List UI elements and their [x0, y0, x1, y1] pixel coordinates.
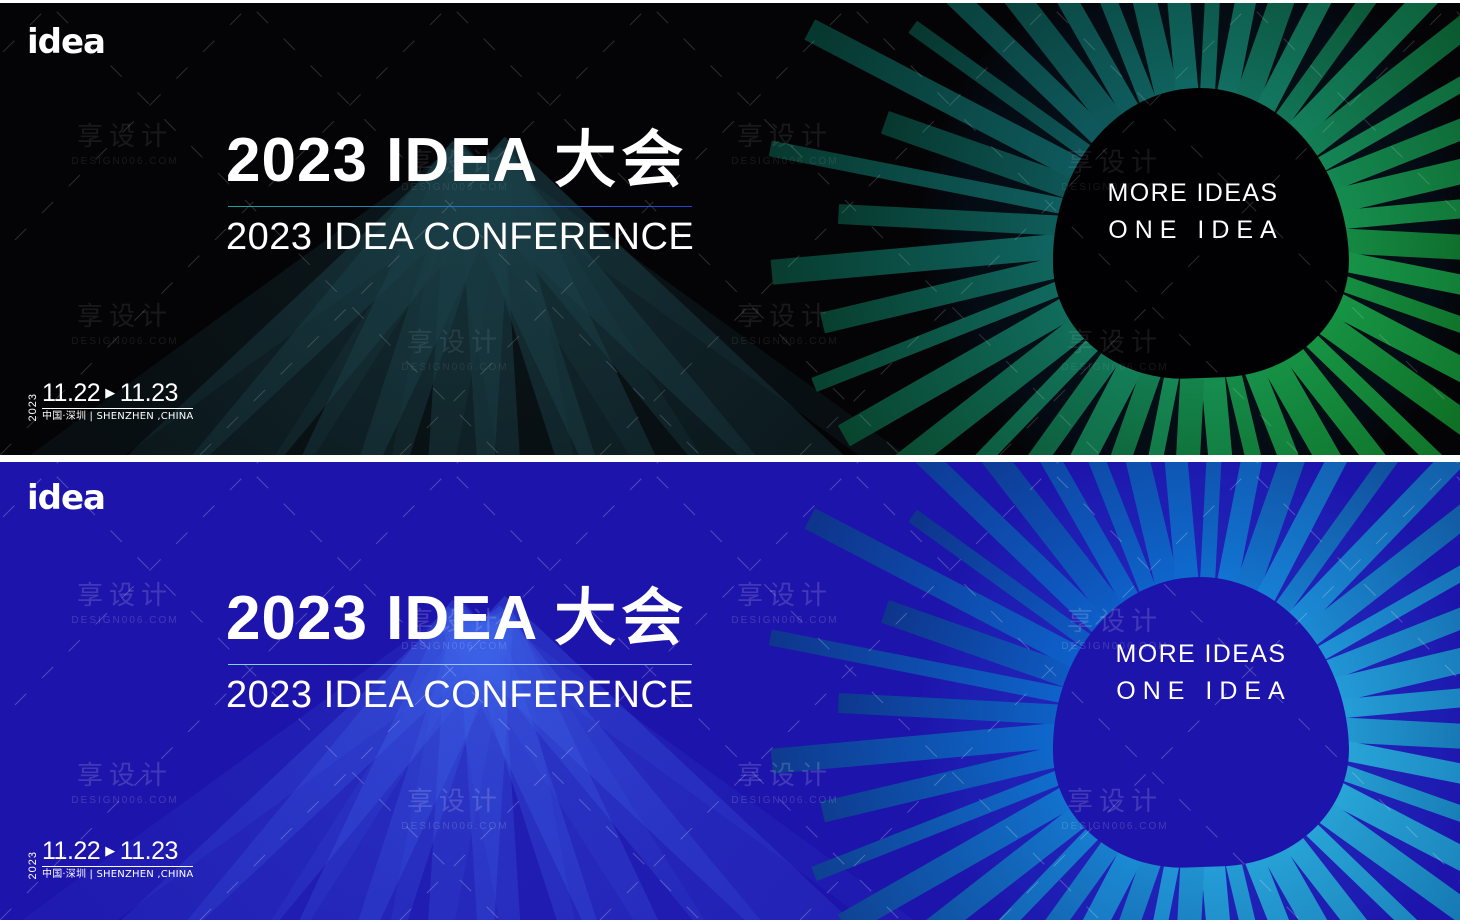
- date-block-dark: 2023 11.22 ▶ 11.23 中国·深圳 | SHENZHEN ,CHI…: [28, 381, 193, 422]
- watermark: 享设计DESIGN006.COM: [370, 327, 540, 374]
- sunburst-spoke: [1195, 227, 1460, 455]
- page-title-blue: 2023 IDEA 大会: [226, 585, 786, 652]
- watermark-cn: 享设计: [40, 301, 210, 334]
- watermark-en: DESIGN006.COM: [40, 336, 210, 349]
- sunburst-spoke: [987, 227, 1211, 455]
- watermark-en: DESIGN006.COM: [1030, 821, 1200, 834]
- date-start-dark: 11.22: [42, 381, 100, 406]
- watermark: 享设计DESIGN006.COM: [40, 580, 210, 627]
- watermark: 享设计DESIGN006.COM: [1030, 327, 1200, 374]
- title-block-dark: 2023 IDEA 大会 2023 IDEA CONFERENCE: [226, 127, 786, 259]
- sunburst-spoke: [976, 716, 1208, 920]
- sunburst-spoke: [1192, 227, 1458, 455]
- sunburst-spoke: [838, 223, 1206, 447]
- sunburst-spoke: [1077, 719, 1210, 920]
- date-arrow-icon-dark: ▶: [105, 386, 115, 399]
- date-year-blue: 2023: [28, 851, 39, 879]
- date-range-dark: 11.22 ▶ 11.23: [42, 381, 193, 406]
- title-main-cjk: 大会: [554, 581, 688, 654]
- watermark-cn: 享设计: [370, 786, 540, 819]
- watermark-en: DESIGN006.COM: [370, 362, 540, 375]
- date-right-dark: 11.22 ▶ 11.23 中国·深圳 | SHENZHEN ,CHINA: [42, 381, 193, 422]
- date-start-blue: 11.22: [42, 839, 100, 864]
- date-year-dark: 2023: [28, 393, 39, 421]
- watermark-en: DESIGN006.COM: [40, 615, 210, 628]
- sunburst-spoke: [1197, 226, 1460, 360]
- sunburst-spoke: [881, 713, 1207, 920]
- sunburst-spoke: [1194, 222, 1460, 443]
- title-main-latin: 2023 IDEA: [226, 126, 554, 195]
- watermark-en: DESIGN006.COM: [40, 795, 210, 808]
- title-divider-blue: [228, 664, 692, 665]
- tagline-line-2-blue: ONE IDEA: [1096, 679, 1306, 704]
- sunburst-spoke: [811, 715, 1203, 881]
- sunburst-spoke: [1189, 227, 1408, 455]
- watermark-en: DESIGN006.COM: [700, 336, 870, 349]
- poster-panel-dark: 享设计DESIGN006.COM享设计DESIGN006.COM享设计DESIG…: [0, 3, 1460, 455]
- watermark-cn: 享设计: [1030, 327, 1200, 360]
- watermark-cn: 享设计: [40, 760, 210, 793]
- sunburst-spoke: [1199, 710, 1460, 752]
- watermark-en: DESIGN006.COM: [40, 156, 210, 169]
- sunburst-spoke: [976, 227, 1208, 455]
- page-title-dark: 2023 IDEA 大会: [226, 127, 786, 194]
- tagline-blue: MORE IDEAS ONE IDEA: [1096, 642, 1306, 704]
- watermark-cn: 享设计: [700, 760, 870, 793]
- tagline-line-1-blue: MORE IDEAS: [1096, 642, 1306, 667]
- sunburst-spoke: [1077, 230, 1210, 455]
- tagline-line-2-dark: ONE IDEA: [1088, 218, 1298, 243]
- poster-stage: 享设计DESIGN006.COM享设计DESIGN006.COM享设计DESIG…: [0, 0, 1460, 920]
- sunburst-spoke: [1197, 715, 1460, 849]
- date-underline-blue: [42, 866, 193, 867]
- title-main-latin: 2023 IDEA: [226, 584, 554, 653]
- watermark-en: DESIGN006.COM: [1030, 362, 1200, 375]
- brand-logo-blue: idea: [27, 478, 105, 518]
- date-end-dark: 11.23: [120, 381, 178, 406]
- watermark-cn: 享设计: [370, 327, 540, 360]
- sunburst-spoke: [1193, 223, 1460, 455]
- watermark-cn: 享设计: [40, 580, 210, 613]
- poster-panel-blue: 享设计DESIGN006.COM享设计DESIGN006.COM享设计DESIG…: [0, 462, 1460, 920]
- title-divider-dark: [228, 206, 692, 207]
- sunburst-spoke: [838, 712, 1206, 920]
- date-right-blue: 11.22 ▶ 11.23 中国·深圳 | SHENZHEN ,CHINA: [42, 839, 193, 880]
- sunburst-spoke: [1192, 720, 1294, 920]
- title-main-cjk: 大会: [554, 123, 688, 196]
- sunburst-spoke: [1170, 232, 1212, 455]
- tagline-line-1-dark: MORE IDEAS: [1088, 181, 1298, 206]
- sunburst-spoke: [881, 224, 1207, 455]
- date-block-blue: 2023 11.22 ▶ 11.23 中国·深圳 | SHENZHEN ,CHI…: [28, 839, 193, 880]
- title-block-blue: 2023 IDEA 大会 2023 IDEA CONFERENCE: [226, 585, 786, 717]
- sunburst-spoke: [1189, 716, 1408, 920]
- tagline-dark: MORE IDEAS ONE IDEA: [1088, 181, 1298, 243]
- watermark-en: DESIGN006.COM: [700, 795, 870, 808]
- date-range-blue: 11.22 ▶ 11.23: [42, 839, 193, 864]
- sunburst-spoke: [898, 227, 1206, 455]
- sunburst-spoke: [1192, 716, 1458, 920]
- sunburst-spoke: [1193, 712, 1460, 920]
- sunburst-spoke: [1191, 718, 1366, 920]
- page-subtitle-blue: 2023 IDEA CONFERENCE: [226, 674, 786, 717]
- brand-logo-dark: idea: [27, 22, 105, 62]
- date-location-dark: 中国·深圳 | SHENZHEN ,CHINA: [42, 411, 193, 422]
- date-underline-dark: [42, 408, 193, 409]
- sunburst-spoke: [1107, 721, 1207, 920]
- watermark-cn: 享设计: [1030, 606, 1200, 639]
- sunburst-spoke: [1194, 711, 1460, 920]
- watermark: 享设计DESIGN006.COM: [700, 301, 870, 348]
- sunburst-spoke: [1198, 712, 1460, 817]
- watermark: 享设计DESIGN006.COM: [40, 121, 210, 168]
- date-arrow-icon-blue: ▶: [105, 844, 115, 857]
- sunburst-spoke: [987, 716, 1211, 920]
- sunburst-spoke: [1188, 232, 1251, 455]
- watermark: 享设计DESIGN006.COM: [370, 786, 540, 833]
- watermark: 享设计DESIGN006.COM: [40, 760, 210, 807]
- watermark-cn: 享设计: [40, 121, 210, 154]
- sunburst-spoke: [898, 716, 1206, 920]
- sunburst-spoke: [1188, 721, 1251, 920]
- watermark: 享设计DESIGN006.COM: [40, 301, 210, 348]
- sunburst-center-blob: [1047, 572, 1353, 872]
- sunburst-spoke: [1107, 232, 1207, 455]
- sunburst-spoke: [1191, 229, 1366, 455]
- sunburst-spoke: [811, 226, 1203, 392]
- watermark: 享设计DESIGN006.COM: [700, 760, 870, 807]
- sunburst-spoke: [820, 712, 1203, 822]
- watermark-cn: 享设计: [1030, 147, 1200, 180]
- watermark-cn: 享设计: [1030, 786, 1200, 819]
- watermark: 享设计DESIGN006.COM: [1030, 786, 1200, 833]
- date-location-blue: 中国·深圳 | SHENZHEN ,CHINA: [42, 869, 193, 880]
- page-subtitle-dark: 2023 IDEA CONFERENCE: [226, 216, 786, 259]
- sunburst-spoke: [771, 710, 1202, 774]
- watermark-cn: 享设计: [700, 301, 870, 334]
- sunburst-spoke: [1170, 721, 1212, 920]
- sunburst-spoke: [1192, 231, 1294, 455]
- sunburst-spoke: [1195, 716, 1460, 920]
- watermark-en: DESIGN006.COM: [370, 821, 540, 834]
- date-end-blue: 11.23: [120, 839, 178, 864]
